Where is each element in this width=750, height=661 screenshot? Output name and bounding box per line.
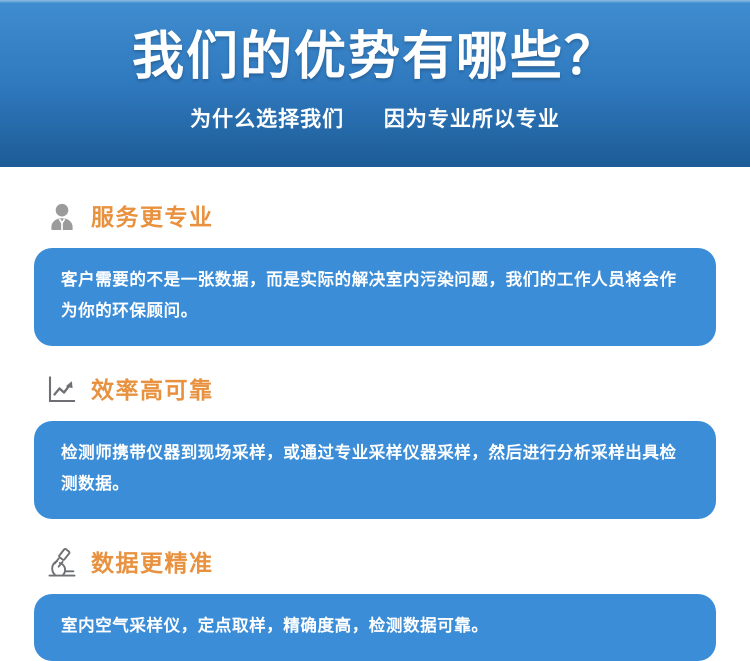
advantages-list: 服务更专业 客户需要的不是一张数据，而是实际的解决室内污染问题，我们的工作人员将… xyxy=(0,167,750,661)
advantage-callout-box: 客户需要的不是一张数据，而是实际的解决室内污染问题，我们的工作人员将会作为你的环… xyxy=(34,248,716,346)
advantage-callout-box: 检测师携带仪器到现场采样，或通过专业采样仪器采样，然后进行分析采样出具检测数据。 xyxy=(34,421,716,519)
advantage-section-accuracy: 数据更精准 室内空气采样仪，定点取样，精确度高，检测数据可靠。 xyxy=(0,541,750,661)
trending-up-chart-icon xyxy=(43,371,81,409)
banner-subtitle: 为什么选择我们 因为专业所以专业 xyxy=(0,90,750,134)
user-icon xyxy=(43,198,81,236)
advantage-body-text: 客户需要的不是一张数据，而是实际的解决室内污染问题，我们的工作人员将会作为你的环… xyxy=(61,265,689,327)
page-title: 我们的优势有哪些？ xyxy=(0,0,750,90)
section-heading-row: 数据更精准 xyxy=(0,541,750,585)
section-heading-row: 效率高可靠 xyxy=(0,368,750,412)
section-heading-label: 服务更专业 xyxy=(91,204,214,230)
header-banner: 我们的优势有哪些？ 为什么选择我们 因为专业所以专业 xyxy=(0,0,750,167)
section-heading-label: 数据更精准 xyxy=(91,550,214,576)
advantage-body-text: 室内空气采样仪，定点取样，精确度高，检测数据可靠。 xyxy=(61,611,689,642)
microscope-icon xyxy=(43,544,81,582)
advantage-body-text: 检测师携带仪器到现场采样，或通过专业采样仪器采样，然后进行分析采样出具检测数据。 xyxy=(61,438,689,500)
advantage-section-efficiency: 效率高可靠 检测师携带仪器到现场采样，或通过专业采样仪器采样，然后进行分析采样出… xyxy=(0,368,750,519)
section-heading-label: 效率高可靠 xyxy=(91,377,214,403)
banner-subtitle-left: 为什么选择我们 xyxy=(190,108,344,131)
banner-subtitle-right: 因为专业所以专业 xyxy=(384,108,560,131)
banner-text-block: 我们的优势有哪些？ 为什么选择我们 因为专业所以专业 xyxy=(0,0,750,134)
advantage-callout-box: 室内空气采样仪，定点取样，精确度高，检测数据可靠。 xyxy=(34,594,716,661)
advantage-section-service: 服务更专业 客户需要的不是一张数据，而是实际的解决室内污染问题，我们的工作人员将… xyxy=(0,195,750,346)
section-heading-row: 服务更专业 xyxy=(0,195,750,239)
